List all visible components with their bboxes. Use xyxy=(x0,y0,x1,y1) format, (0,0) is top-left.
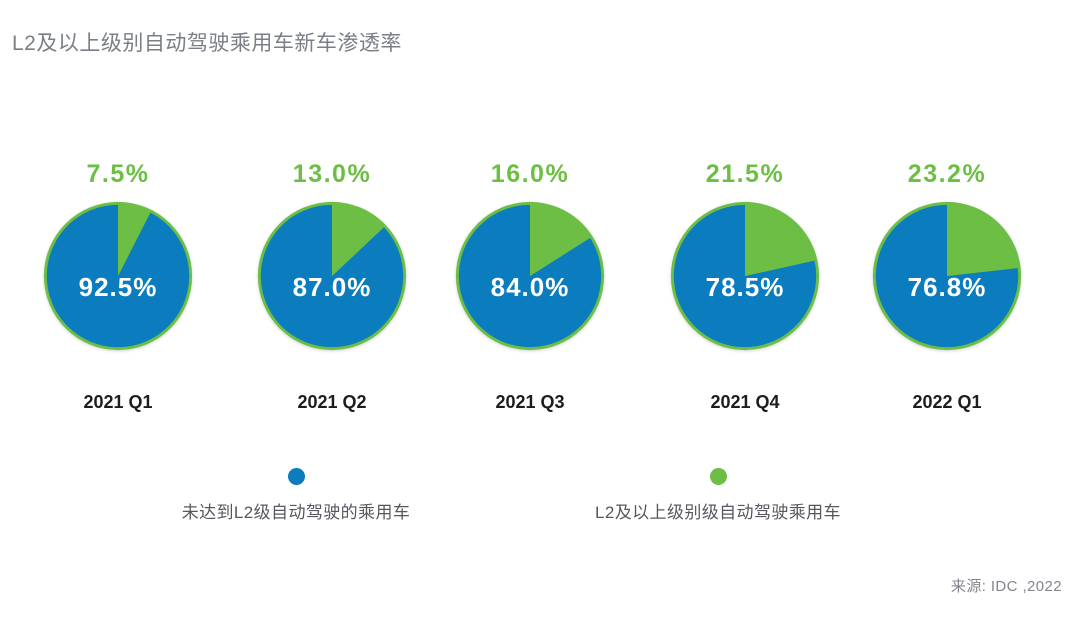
source-note: 来源: IDC ,2022 xyxy=(951,575,1062,596)
page-title: L2及以上级别自动驾驶乘用车新车渗透率 xyxy=(12,29,402,59)
pie-svg xyxy=(40,198,196,354)
legend-label: L2及以上级别级自动驾驶乘用车 xyxy=(548,502,888,524)
pie-category-label: 2021 Q3 xyxy=(422,392,638,413)
pie-graphic xyxy=(40,198,196,354)
pie-green-value-label: 13.0% xyxy=(224,160,440,189)
pie-category-label: 2021 Q2 xyxy=(224,392,440,413)
pie-svg xyxy=(869,198,1025,354)
pie-category-label: 2021 Q4 xyxy=(637,392,853,413)
legend-dot-icon-blue xyxy=(288,468,305,485)
legend-dot-icon-green xyxy=(710,468,727,485)
chart-legend: 未达到L2级自动驾驶的乘用车 L2及以上级别级自动驾驶乘用车 xyxy=(0,468,1080,538)
pie-graphic xyxy=(667,198,823,354)
pie-slice-green xyxy=(947,205,1018,276)
legend-label: 未达到L2级自动驾驶的乘用车 xyxy=(126,502,466,524)
legend-item-green: L2及以上级别级自动驾驶乘用车 xyxy=(548,468,888,524)
pie-green-value-label: 7.5% xyxy=(10,160,226,189)
chart-container: L2及以上级别自动驾驶乘用车新车渗透率 7.5% 92.5% 2021 Q1 1… xyxy=(0,0,1080,629)
pie-chart-cell: 13.0% 87.0% 2021 Q2 xyxy=(224,160,440,420)
pie-green-value-label: 23.2% xyxy=(839,160,1055,189)
pie-chart-row: 7.5% 92.5% 2021 Q1 13.0% 87.0% xyxy=(0,160,1080,420)
pie-green-value-label: 16.0% xyxy=(422,160,638,189)
pie-svg xyxy=(254,198,410,354)
pie-chart-cell: 7.5% 92.5% 2021 Q1 xyxy=(10,160,226,420)
pie-chart-cell: 23.2% 76.8% 2022 Q1 xyxy=(839,160,1055,420)
pie-graphic xyxy=(452,198,608,354)
pie-chart-cell: 16.0% 84.0% 2021 Q3 xyxy=(422,160,638,420)
pie-svg xyxy=(667,198,823,354)
pie-category-label: 2022 Q1 xyxy=(839,392,1055,413)
pie-category-label: 2021 Q1 xyxy=(10,392,226,413)
legend-item-blue: 未达到L2级自动驾驶的乘用车 xyxy=(126,468,466,524)
pie-graphic xyxy=(869,198,1025,354)
pie-green-value-label: 21.5% xyxy=(637,160,853,189)
pie-graphic xyxy=(254,198,410,354)
pie-chart-cell: 21.5% 78.5% 2021 Q4 xyxy=(637,160,853,420)
pie-svg xyxy=(452,198,608,354)
